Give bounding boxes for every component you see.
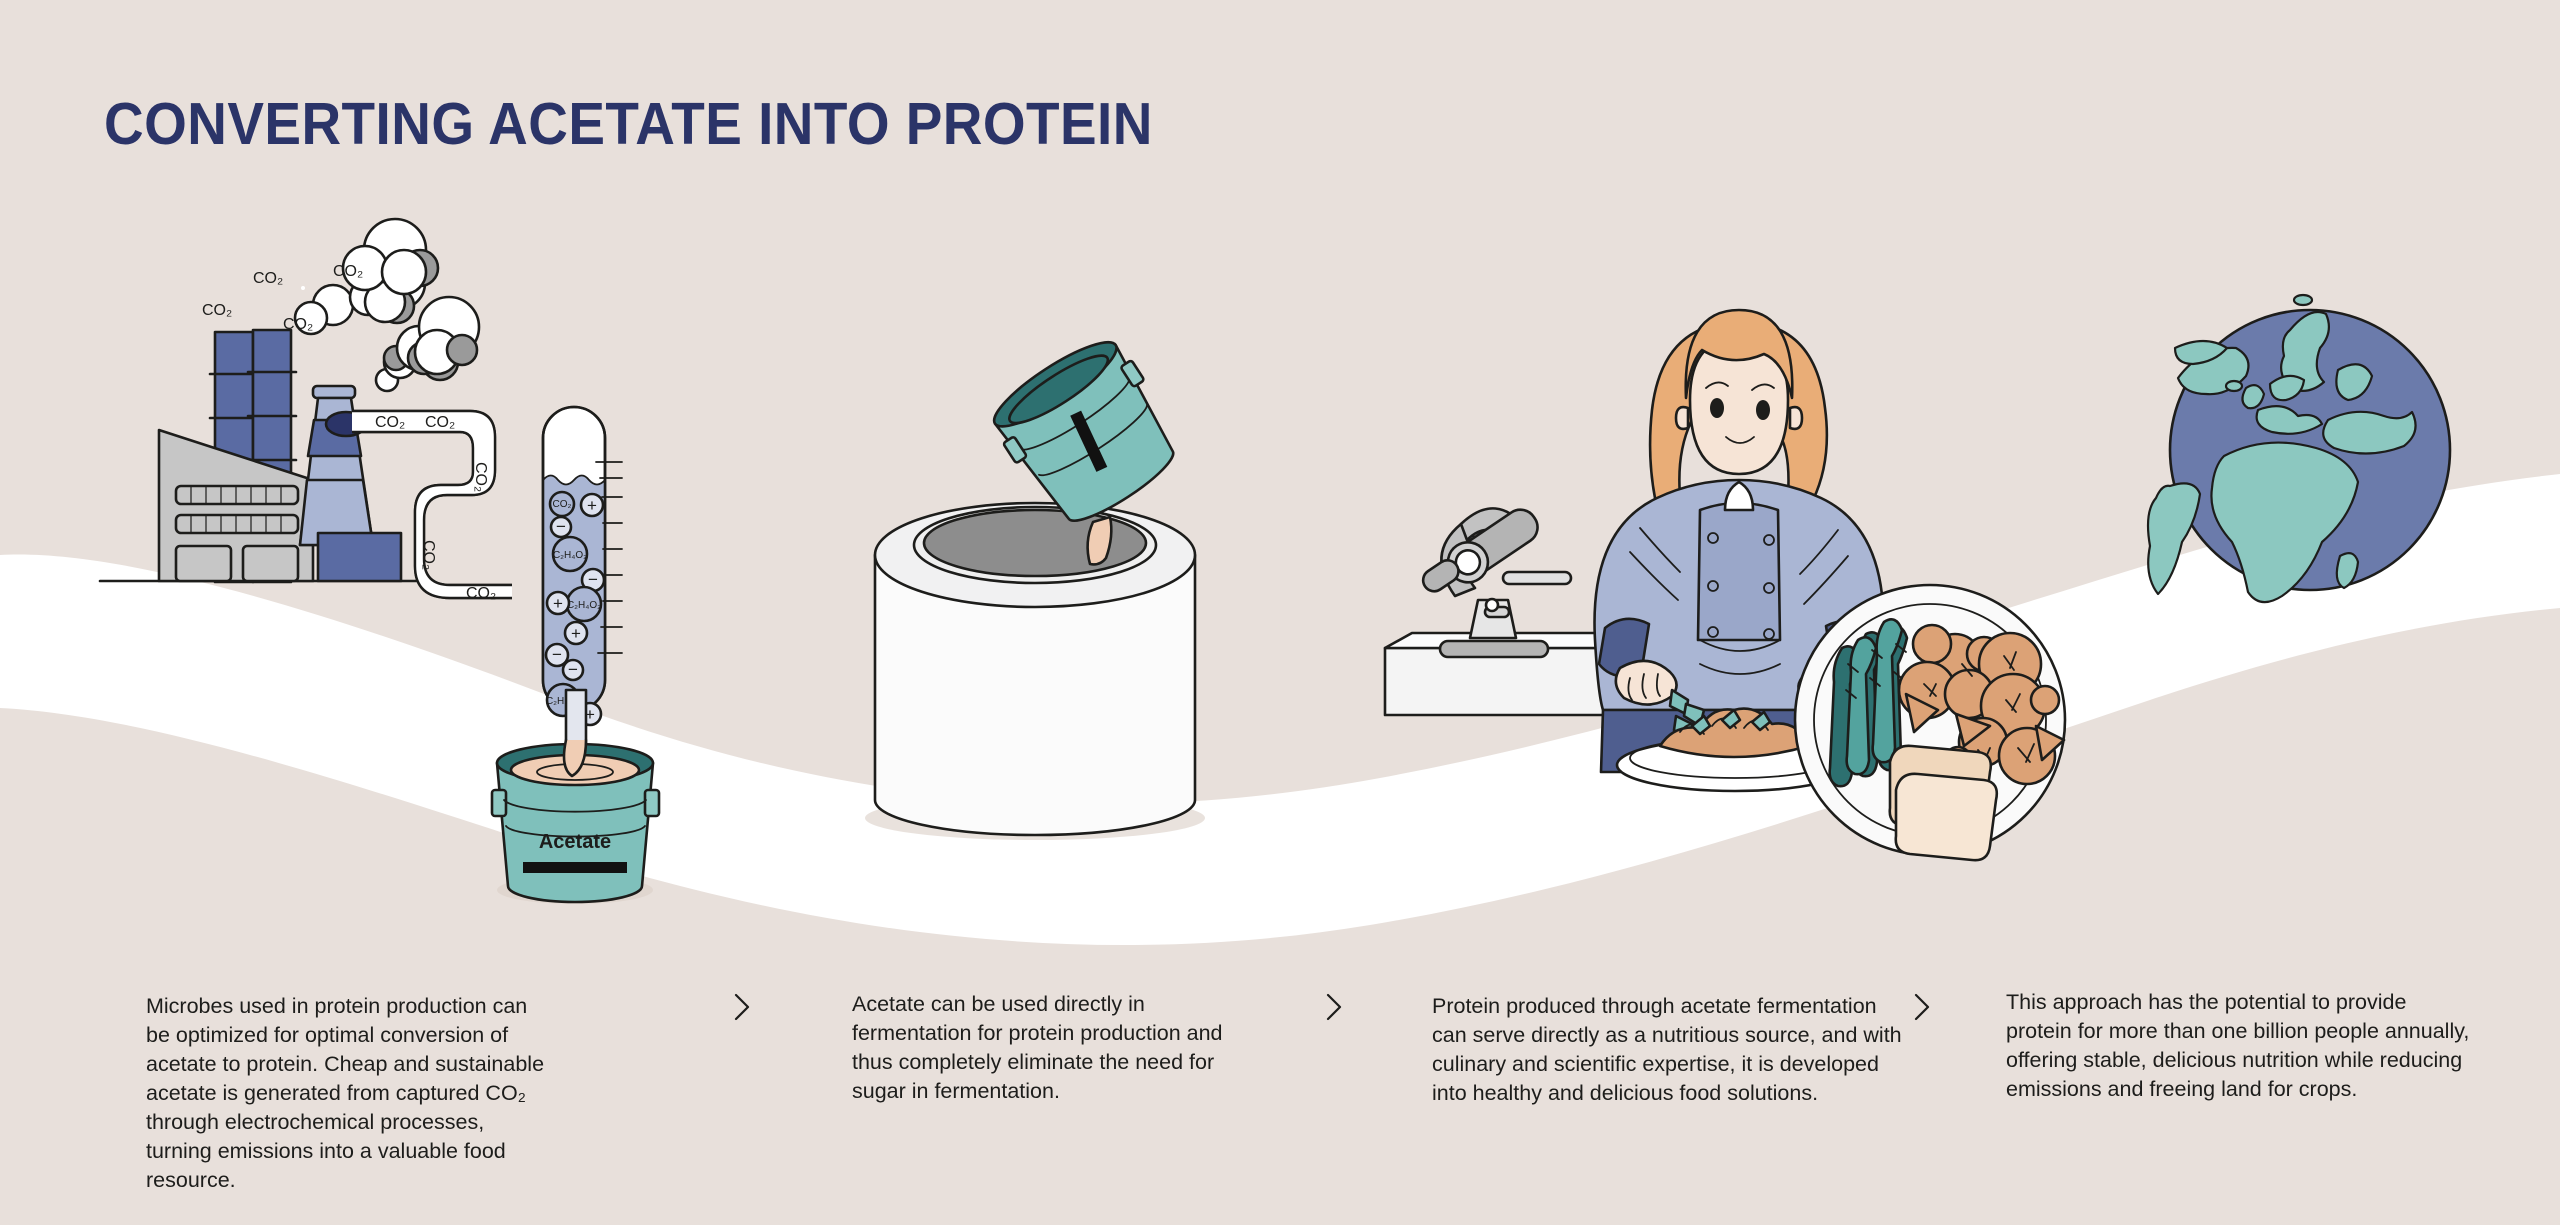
caption-1: Microbes used in protein production can … xyxy=(146,992,546,1195)
co2-label: CO₂ xyxy=(253,270,283,287)
smoke-cloud-group xyxy=(295,219,479,391)
caption-row: Microbes used in protein production can … xyxy=(0,985,2560,1205)
chevron-right-icon xyxy=(725,990,759,1024)
ion-label: − xyxy=(568,660,578,679)
co2-label: CO₂ xyxy=(202,302,232,319)
chevron-right-icon xyxy=(1317,990,1351,1024)
ion-label: − xyxy=(556,517,566,536)
co2-label: CO₂ xyxy=(472,462,489,492)
ion-label: + xyxy=(553,594,563,613)
acetate-bucket: Acetate xyxy=(492,740,659,904)
co2-label: CO₂ xyxy=(425,414,455,431)
chevron-right-icon xyxy=(1905,990,1939,1024)
bucket-label: Acetate xyxy=(539,831,611,853)
molecule-label: C₂H₄O₂ xyxy=(567,600,601,611)
scene-chef xyxy=(1385,310,2065,860)
electrochemical-reactor-tube: CO₂ − + C₂H₄O₂ − C₂H₄O₂ + + − − xyxy=(543,407,622,775)
ion-label: − xyxy=(552,645,562,664)
scene-factory: CO₂ CO₂ CO₂ CO₂ xyxy=(100,219,659,904)
ion-label: − xyxy=(588,570,598,589)
infographic-canvas: CONVERTING ACETATE INTO PROTEIN .ln { st… xyxy=(0,0,2560,1225)
molecule-label: CO₂ xyxy=(553,499,572,510)
caption-2: Acetate can be used directly in fermenta… xyxy=(852,990,1247,1106)
ion-label: + xyxy=(571,624,581,643)
molecule-label: C₂H₄O₂ xyxy=(553,550,587,561)
co2-label: CO₂ xyxy=(420,540,437,570)
caption-3: Protein produced through acetate ferment… xyxy=(1432,992,1912,1108)
caption-4: This approach has the potential to provi… xyxy=(2006,988,2476,1104)
bread-group xyxy=(1890,746,1997,860)
co2-label: CO₂ xyxy=(333,263,363,280)
scene-fermenter xyxy=(865,327,1205,840)
food-plate-circle xyxy=(1795,585,2065,860)
co2-label: CO₂ xyxy=(375,414,405,431)
scene-globe xyxy=(2148,295,2450,602)
ion-label: + xyxy=(587,496,597,515)
co2-label: CO₂ xyxy=(466,585,496,602)
